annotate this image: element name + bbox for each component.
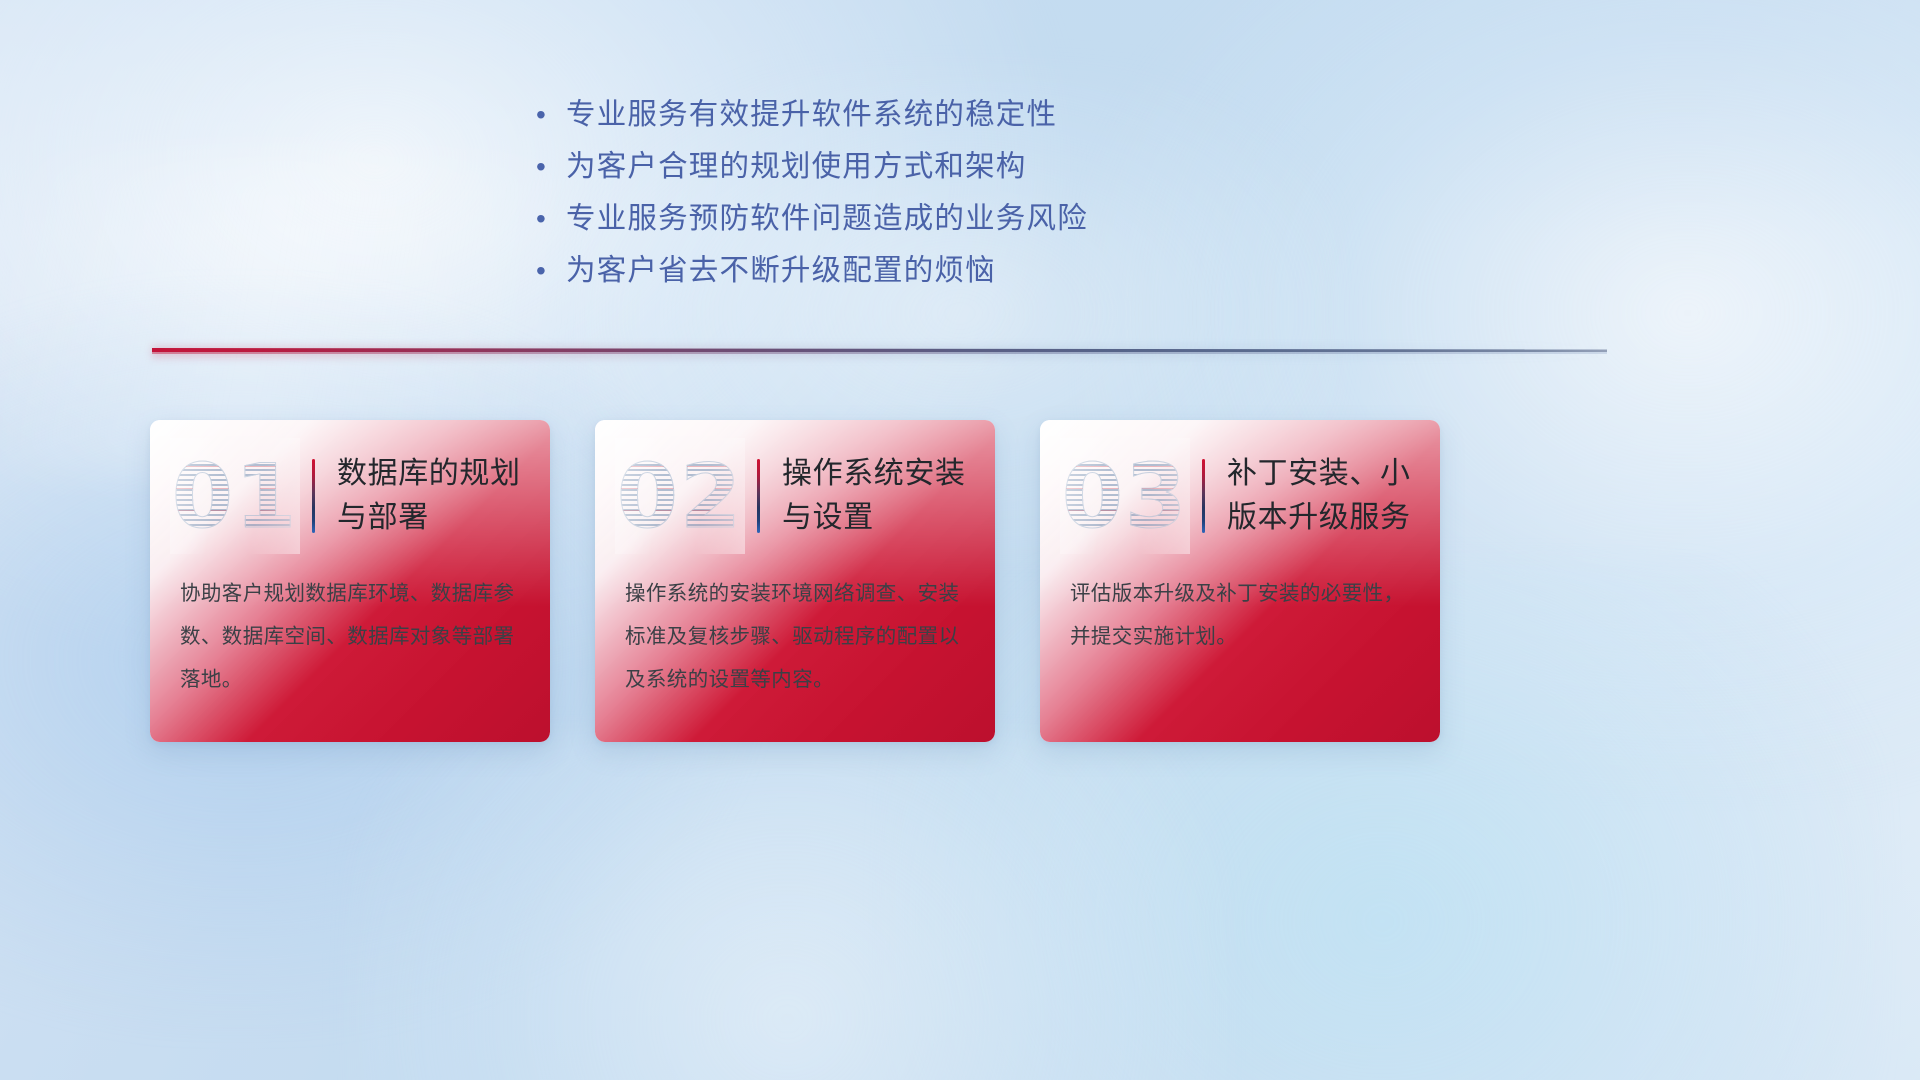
card-header: 03 03 补丁安装、小 版本升级服务 — [1040, 420, 1440, 572]
card-accent-rule — [312, 459, 315, 533]
card-number-watermark: 03 03 — [1066, 444, 1184, 548]
card-accent-rule — [757, 459, 760, 533]
bullet-dot-icon: • — [536, 248, 566, 294]
service-card-row: 01 01 数据库的规划 与部署 协助客户规划数据库环境、数据库参数、数据库空间… — [150, 420, 1440, 742]
card-number-red-accent: 01 — [176, 444, 294, 548]
list-item: • 为客户合理的规划使用方式和架构 — [536, 144, 1296, 196]
card-number-watermark: 01 01 — [176, 444, 294, 548]
service-card-02[interactable]: 02 02 操作系统安装 与设置 操作系统的安装环境网络调查、安装标准及复核步骤… — [595, 420, 995, 742]
card-header: 02 02 操作系统安装 与设置 — [595, 420, 995, 572]
bullet-text-1: 专业服务有效提升软件系统的稳定性 — [566, 92, 1057, 138]
section-divider — [152, 344, 1607, 368]
divider-hairline — [152, 352, 1607, 354]
list-item: • 为客户省去不断升级配置的烦恼 — [536, 248, 1296, 300]
service-card-03[interactable]: 03 03 补丁安装、小 版本升级服务 评估版本升级及补丁安装的必要性，并提交实… — [1040, 420, 1440, 742]
card-accent-rule — [1202, 459, 1205, 533]
bullet-dot-icon: • — [536, 92, 566, 138]
bullet-text-2: 为客户合理的规划使用方式和架构 — [566, 144, 1027, 190]
card-number-watermark: 02 02 — [621, 444, 739, 548]
service-card-01[interactable]: 01 01 数据库的规划 与部署 协助客户规划数据库环境、数据库参数、数据库空间… — [150, 420, 550, 742]
card-title: 操作系统安装 与设置 — [782, 452, 966, 540]
bullet-text-4: 为客户省去不断升级配置的烦恼 — [566, 248, 996, 294]
card-body-text: 评估版本升级及补丁安装的必要性，并提交实施计划。 — [1040, 572, 1440, 658]
card-title: 补丁安装、小 版本升级服务 — [1227, 452, 1411, 540]
card-number-red-accent: 03 — [1066, 444, 1184, 548]
card-number-red-accent: 02 — [621, 444, 739, 548]
bullet-text-3: 专业服务预防软件问题造成的业务风险 — [566, 196, 1088, 242]
bullet-dot-icon: • — [536, 196, 566, 242]
card-body-text: 协助客户规划数据库环境、数据库参数、数据库空间、数据库对象等部署落地。 — [150, 572, 550, 701]
list-item: • 专业服务有效提升软件系统的稳定性 — [536, 92, 1296, 144]
card-title: 数据库的规划 与部署 — [337, 452, 521, 540]
card-body-text: 操作系统的安装环境网络调查、安装标准及复核步骤、驱动程序的配置以及系统的设置等内… — [595, 572, 995, 701]
bullet-dot-icon: • — [536, 144, 566, 190]
card-header: 01 01 数据库的规划 与部署 — [150, 420, 550, 572]
list-item: • 专业服务预防软件问题造成的业务风险 — [536, 196, 1296, 248]
benefits-bullet-list: • 专业服务有效提升软件系统的稳定性 • 为客户合理的规划使用方式和架构 • 专… — [536, 92, 1296, 300]
